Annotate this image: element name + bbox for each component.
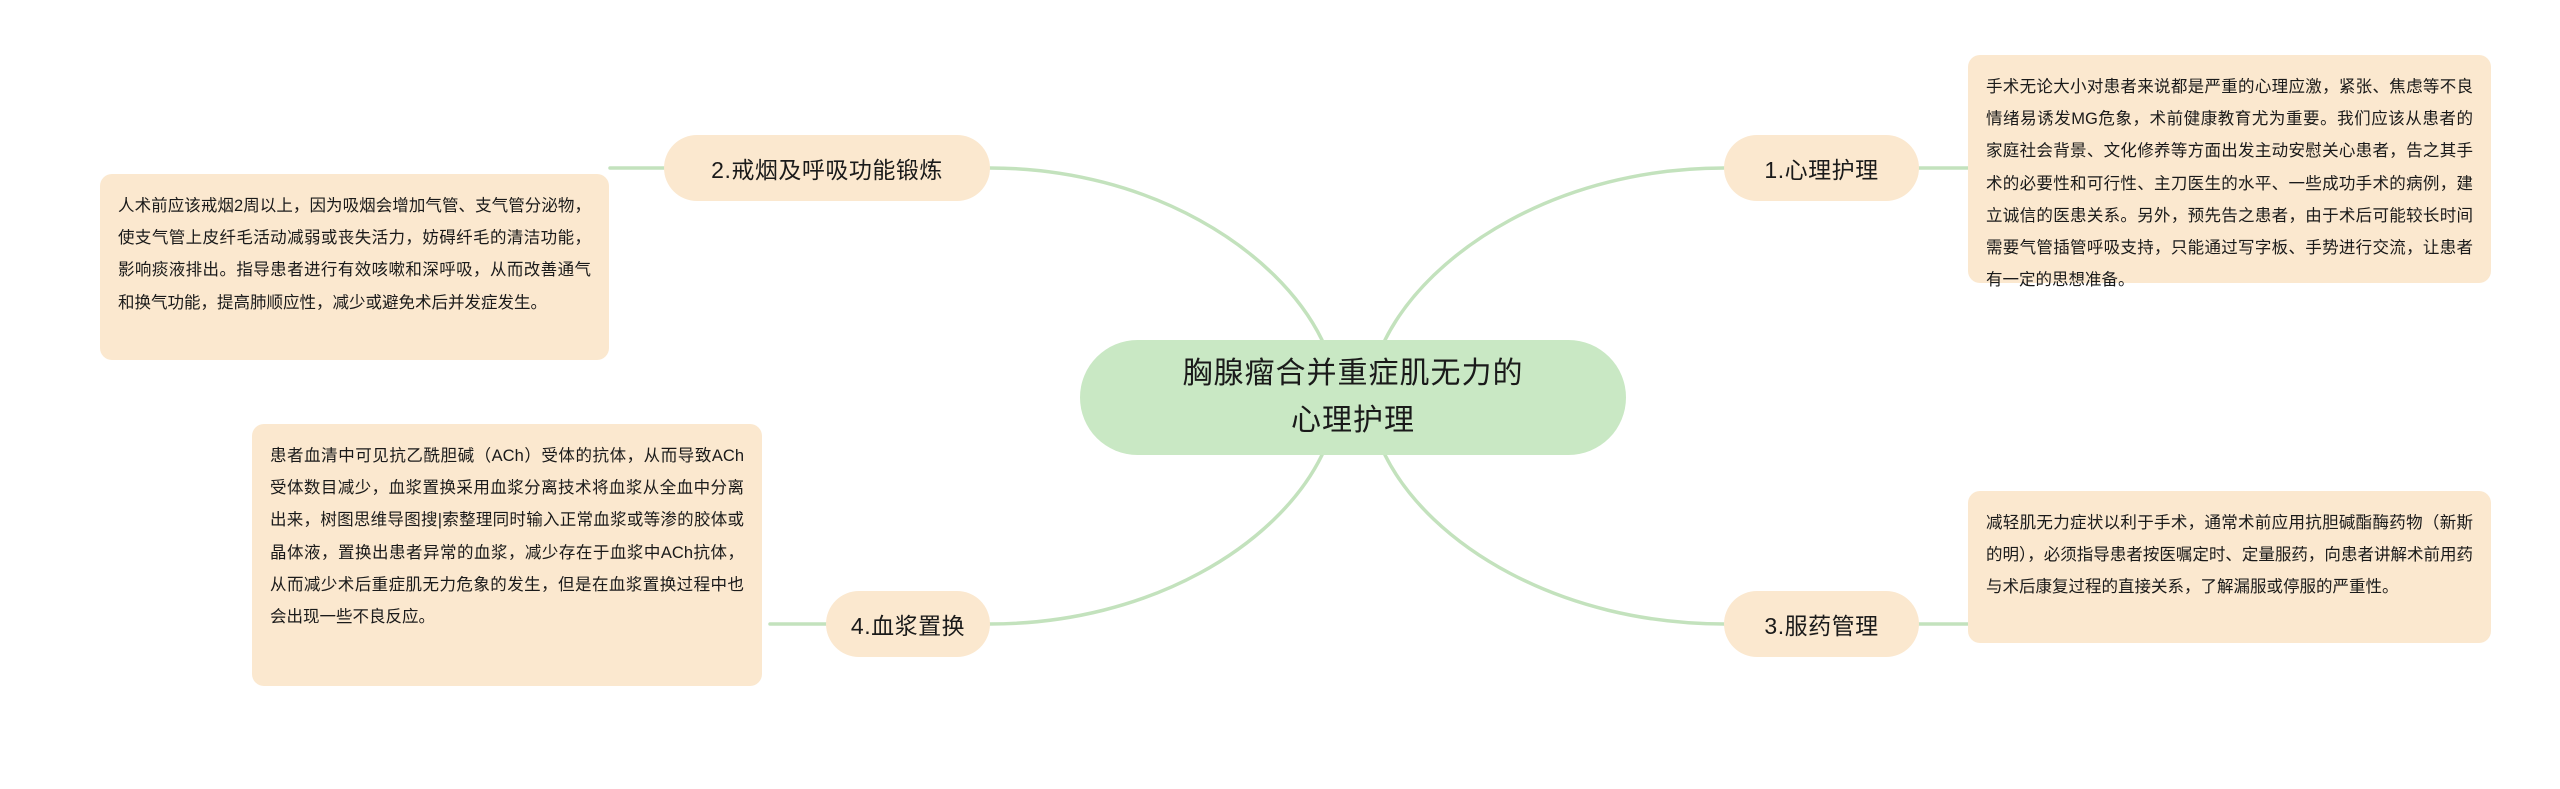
branch-node-4-label: 4.血浆置换 xyxy=(851,607,965,641)
branch-node-3-label: 3.服药管理 xyxy=(1764,607,1878,641)
branch-node-1[interactable]: 1.心理护理 xyxy=(1724,135,1919,201)
root-node-label: 胸腺瘤合并重症肌无力的 心理护理 xyxy=(1183,351,1524,444)
detail-card-4-text: 患者血清中可见抗乙酰胆碱（ACh）受体的抗体，从而导致ACh受体数目减少，血浆置… xyxy=(270,447,744,626)
root-node[interactable]: 胸腺瘤合并重症肌无力的 心理护理 xyxy=(1080,340,1626,455)
link-root-to-branch-4 xyxy=(990,455,1322,624)
detail-card-1-text: 手术无论大小对患者来说都是严重的心理应激，紧张、焦虑等不良情绪易诱发MG危象，术… xyxy=(1986,78,2473,289)
detail-card-3[interactable]: 减轻肌无力症状以利于手术，通常术前应用抗胆碱酯酶药物（新斯的明），必须指导患者按… xyxy=(1968,491,2491,643)
detail-card-2-text: 人术前应该戒烟2周以上，因为吸烟会增加气管、支气管分泌物，使支气管上皮纤毛活动减… xyxy=(118,197,591,312)
mindmap-canvas: 胸腺瘤合并重症肌无力的 心理护理 1.心理护理 2.戒烟及呼吸功能锻炼 3.服药… xyxy=(0,0,2560,789)
branch-node-1-label: 1.心理护理 xyxy=(1764,151,1878,185)
link-root-to-branch-1 xyxy=(1385,168,1724,340)
branch-node-2[interactable]: 2.戒烟及呼吸功能锻炼 xyxy=(664,135,990,201)
branch-node-4[interactable]: 4.血浆置换 xyxy=(826,591,990,657)
detail-card-3-text: 减轻肌无力症状以利于手术，通常术前应用抗胆碱酯酶药物（新斯的明），必须指导患者按… xyxy=(1986,514,2473,596)
branch-node-3[interactable]: 3.服药管理 xyxy=(1724,591,1919,657)
branch-node-2-label: 2.戒烟及呼吸功能锻炼 xyxy=(711,151,943,185)
detail-card-2[interactable]: 人术前应该戒烟2周以上，因为吸烟会增加气管、支气管分泌物，使支气管上皮纤毛活动减… xyxy=(100,174,609,360)
link-root-to-branch-3 xyxy=(1385,455,1724,624)
detail-card-1[interactable]: 手术无论大小对患者来说都是严重的心理应激，紧张、焦虑等不良情绪易诱发MG危象，术… xyxy=(1968,55,2491,283)
detail-card-4[interactable]: 患者血清中可见抗乙酰胆碱（ACh）受体的抗体，从而导致ACh受体数目减少，血浆置… xyxy=(252,424,762,686)
link-root-to-branch-2 xyxy=(990,168,1322,340)
